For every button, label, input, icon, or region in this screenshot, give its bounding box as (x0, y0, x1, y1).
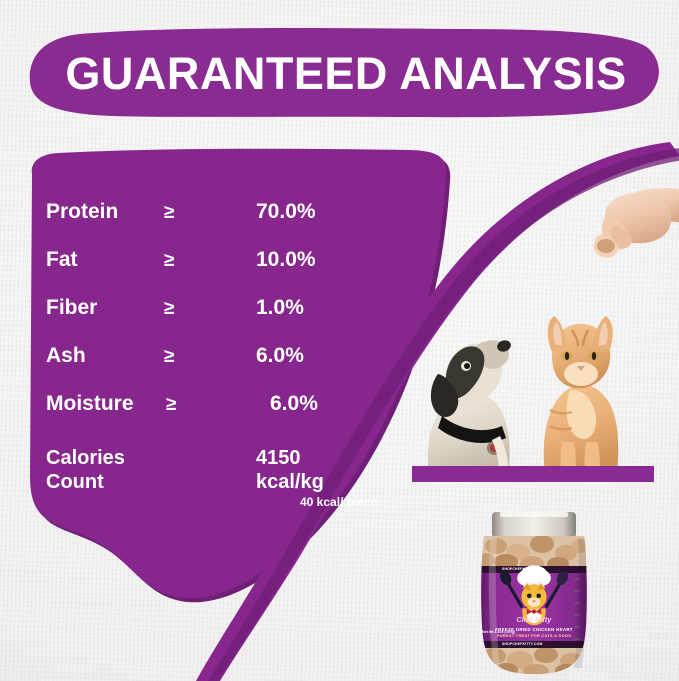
page-title: GUARANTEED ANALYSIS (28, 27, 664, 121)
calories-value: 4150 kcal/kg (256, 446, 324, 494)
dog-image (416, 308, 528, 480)
nutrient-value: 70.0% (256, 200, 356, 224)
nutrient-operator: ≥ (164, 346, 256, 368)
calories-per-piece-note: 40 kcal/ piece (300, 495, 377, 509)
nutrient-name: Moisture (46, 392, 164, 416)
nutrient-value: 6.0% (258, 392, 356, 416)
ground-accent-bar (412, 466, 654, 482)
mascot-bowtie-knot (532, 609, 536, 613)
guaranteed-analysis-table: Protein ≥ 70.0% Fat ≥ 10.0% Fiber ≥ 1.0%… (46, 200, 356, 494)
calories-label-line1: Calories (46, 446, 256, 470)
jar-strip-text-top: SHOPCHEFKITTY.COM (502, 567, 543, 571)
poster-canvas: GUARANTEED ANALYSIS Protein ≥ 70.0% Fat … (0, 0, 679, 681)
jar-net-weight: Net Wt 3.5oz (100g) (482, 630, 515, 634)
jar-lid-top-highlight (500, 512, 568, 517)
cat-pupil-left (565, 352, 569, 360)
cat-pupil-right (592, 352, 596, 360)
table-row: Fiber ≥ 1.0% (46, 296, 356, 344)
jar-strip-text-bottom: SHOPCHEFKITTY.COM (502, 642, 543, 646)
hand-holding-treat-image (576, 188, 679, 260)
table-row: Moisture ≥ 6.0% (46, 392, 356, 440)
table-row: Ash ≥ 6.0% (46, 344, 356, 392)
table-row: Fat ≥ 10.0% (46, 248, 356, 296)
header-banner: GUARANTEED ANALYSIS (28, 26, 664, 120)
nutrient-value: 10.0% (256, 248, 356, 272)
calories-label-line2: Count (46, 470, 256, 494)
product-jar-image: Chef Kitty FREEZE DRIED CHICKEN HEART PU… (470, 508, 598, 681)
nutrient-value: 1.0% (256, 296, 356, 320)
pets-photo-group (404, 180, 679, 480)
calories-value-line1: 4150 (256, 446, 324, 470)
nutrient-operator: ≥ (164, 250, 256, 272)
nutrient-name: Protein (46, 200, 164, 224)
mascot-eye-right (536, 593, 541, 598)
calories-row: Calories Count 4150 kcal/kg (46, 446, 356, 494)
nutrient-value: 6.0% (256, 344, 356, 368)
treat-piece (597, 239, 615, 253)
dog-pupil (464, 363, 470, 369)
nutrient-name: Fiber (46, 296, 164, 320)
nutrient-name: Fat (46, 248, 164, 272)
cat-muzzle (564, 362, 598, 386)
calories-label: Calories Count (46, 446, 256, 494)
nutrient-operator: ≥ (164, 298, 256, 320)
calories-value-line2: kcal/kg (256, 470, 324, 494)
jar-brand-name: Chef Kitty (470, 617, 598, 624)
cat-image (532, 310, 628, 480)
mascot-eye-left (527, 593, 532, 598)
nutrient-name: Ash (46, 344, 164, 368)
nutrient-operator: ≥ (164, 202, 256, 224)
nutrient-operator: ≥ (164, 394, 258, 416)
table-row: Protein ≥ 70.0% (46, 200, 356, 248)
